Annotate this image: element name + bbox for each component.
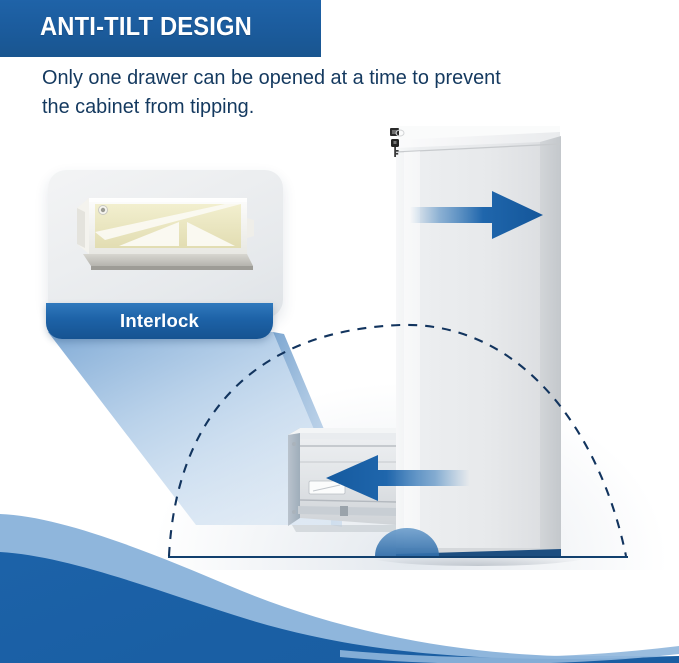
infographic-canvas: ANTI-TILT DESIGN Only one drawer can be … [0,0,679,663]
bottom-wave-decoration [0,500,679,663]
